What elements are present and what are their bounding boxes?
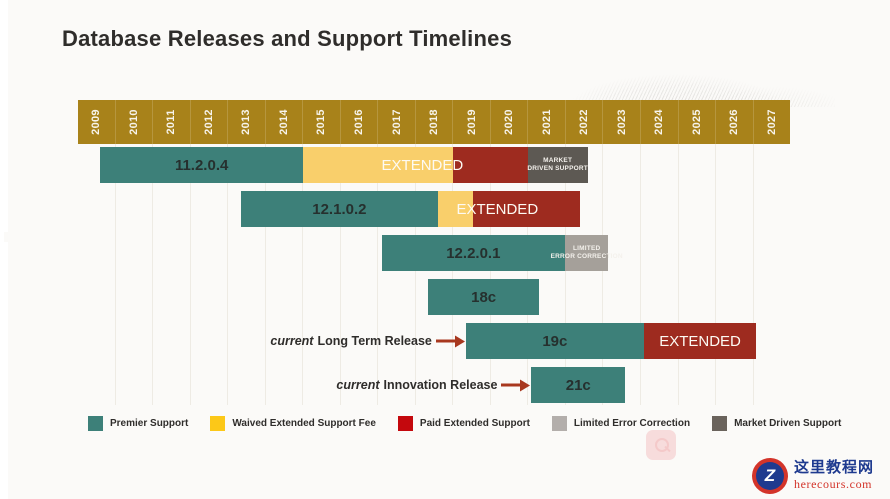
year-label: 2021 [541, 109, 553, 135]
page-title: Database Releases and Support Timelines [62, 26, 512, 52]
bar-segment-label: 12.1.0.2 [312, 201, 366, 218]
timeline-plot-area: 11.2.0.4MARKETDRIVEN SUPPORTEXTENDED12.1… [78, 144, 790, 405]
year-cell-2023: 2023 [603, 100, 641, 144]
timeline-row-21c: 21ccurrentInnovation Release [78, 367, 790, 403]
year-label: 2020 [503, 109, 515, 135]
legend-item-waived[interactable]: Waived Extended Support Fee [210, 416, 376, 431]
year-cell-2009: 2009 [78, 100, 116, 144]
bar-segment-21c-premier[interactable]: 21c [531, 367, 625, 403]
year-label: 2015 [315, 109, 327, 135]
legend-label: Limited Error Correction [574, 418, 690, 429]
year-label: 2016 [353, 109, 365, 135]
gridline-2014 [266, 144, 304, 405]
timeline-row-18c: 18c [78, 279, 790, 315]
legend-swatch-limited [552, 416, 567, 431]
gridline-2015 [303, 144, 341, 405]
year-cell-2015: 2015 [303, 100, 341, 144]
annotation-arrow-icon [501, 384, 521, 387]
bar-segment-label: MARKETDRIVEN SUPPORT [527, 157, 588, 173]
legend-item-market[interactable]: Market Driven Support [712, 416, 841, 431]
year-label: 2019 [466, 109, 478, 135]
gridline-2021 [528, 144, 566, 405]
legend-item-premier[interactable]: Premier Support [88, 416, 188, 431]
annotation-21c: currentInnovation Release [336, 367, 497, 403]
year-cell-2027: 2027 [754, 100, 791, 144]
site-watermark: Z 这里教程网 herecours.com [752, 456, 886, 496]
timeline-chart: 2009201020112012201320142015201620172018… [78, 100, 790, 405]
gridline-2020 [491, 144, 529, 405]
legend-swatch-paid [398, 416, 413, 431]
year-label: 2022 [578, 109, 590, 135]
year-label: 2012 [203, 109, 215, 135]
year-axis-header: 2009201020112012201320142015201620172018… [78, 100, 790, 144]
year-label: 2014 [278, 109, 290, 135]
annotation-italic: current [270, 334, 313, 348]
legend-swatch-premier [88, 416, 103, 431]
bar-segment-12.1.0.2-waived[interactable] [438, 191, 474, 227]
year-cell-2022: 2022 [566, 100, 604, 144]
bar-segment-label: 12.2.0.1 [446, 245, 500, 262]
search-watermark-icon [646, 430, 676, 460]
gridlines [78, 144, 790, 405]
slide-canvas: Database Releases and Support Timelines … [0, 0, 890, 499]
bar-segment-12.2.0.1-limited[interactable]: LIMITEDERROR CORRECTION [565, 235, 608, 271]
gridline-2009 [78, 144, 116, 405]
gridline-2022 [566, 144, 604, 405]
year-cell-2010: 2010 [116, 100, 154, 144]
gridline-2012 [191, 144, 229, 405]
gridline-2010 [116, 144, 154, 405]
bar-segment-11.2.0.4-paid[interactable] [453, 147, 528, 183]
year-cell-2011: 2011 [153, 100, 191, 144]
year-label: 2027 [766, 109, 778, 135]
timeline-row-19c: 19cEXTENDEDcurrentLong Term Release [78, 323, 790, 359]
year-label: 2018 [428, 109, 440, 135]
year-cell-2020: 2020 [491, 100, 529, 144]
bar-segment-label: LIMITEDERROR CORRECTION [551, 245, 623, 261]
legend-item-paid[interactable]: Paid Extended Support [398, 416, 530, 431]
gridline-2011 [153, 144, 191, 405]
chart-legend: Premier SupportWaived Extended Support F… [88, 412, 808, 434]
bar-segment-12.1.0.2-paid[interactable] [473, 191, 580, 227]
bar-segment-label: 21c [566, 377, 591, 394]
bar-segment-19c-premier[interactable]: 19c [466, 323, 644, 359]
year-cell-2021: 2021 [528, 100, 566, 144]
year-cell-2017: 2017 [378, 100, 416, 144]
year-cell-2019: 2019 [453, 100, 491, 144]
gridline-2025 [679, 144, 717, 405]
bar-segment-11.2.0.4-market[interactable]: MARKETDRIVEN SUPPORT [528, 147, 588, 183]
year-label: 2025 [691, 109, 703, 135]
bar-segment-label: 18c [471, 289, 496, 306]
bar-segment-12.1.0.2-premier[interactable]: 12.1.0.2 [241, 191, 438, 227]
year-label: 2009 [90, 109, 102, 135]
year-cell-2014: 2014 [266, 100, 304, 144]
timeline-row-12.1.0.2: 12.1.0.2EXTENDED [78, 191, 790, 227]
year-label: 2011 [165, 109, 177, 134]
legend-label: Premier Support [110, 418, 188, 429]
gridline-2026 [716, 144, 754, 405]
gridline-2017 [378, 144, 416, 405]
legend-label: Paid Extended Support [420, 418, 530, 429]
year-cell-2024: 2024 [641, 100, 679, 144]
bar-segment-12.2.0.1-premier[interactable]: 12.2.0.1 [382, 235, 566, 271]
annotation-arrow-icon [436, 340, 456, 343]
timeline-row-11.2.0.4: 11.2.0.4MARKETDRIVEN SUPPORTEXTENDED [78, 147, 790, 183]
year-label: 2023 [616, 109, 628, 135]
year-label: 2013 [240, 109, 252, 135]
bar-segment-label: 19c [542, 333, 567, 350]
annotation-italic: current [336, 378, 379, 392]
bar-segment-label: 11.2.0.4 [175, 157, 228, 174]
watermark-logo-icon: Z [752, 458, 788, 494]
year-label: 2017 [391, 109, 403, 135]
year-cell-2013: 2013 [228, 100, 266, 144]
legend-swatch-waived [210, 416, 225, 431]
annotation-19c: currentLong Term Release [270, 323, 431, 359]
gridline-2019 [453, 144, 491, 405]
annotation-bold: Innovation Release [384, 378, 498, 392]
legend-swatch-market [712, 416, 727, 431]
gridline-2023 [603, 144, 641, 405]
bar-segment-18c-premier[interactable]: 18c [428, 279, 539, 315]
year-label: 2024 [653, 109, 665, 135]
year-label: 2010 [128, 109, 140, 135]
timeline-row-12.2.0.1: 12.2.0.1LIMITEDERROR CORRECTION [78, 235, 790, 271]
year-label: 2026 [728, 109, 740, 135]
year-cell-2026: 2026 [716, 100, 754, 144]
year-cell-2018: 2018 [416, 100, 454, 144]
gridline-2027 [754, 144, 791, 405]
annotation-bold: Long Term Release [317, 334, 431, 348]
year-cell-2012: 2012 [191, 100, 229, 144]
watermark-logo-letter: Z [752, 458, 788, 494]
page-left-edge [0, 0, 8, 499]
gridline-2013 [228, 144, 266, 405]
watermark-chinese-text: 这里教程网 [794, 456, 874, 477]
bar-segment-label: EXTENDED [659, 333, 741, 350]
page-edge-notch [4, 232, 12, 242]
bar-segment-11.2.0.4-waived[interactable] [303, 147, 453, 183]
year-cell-2016: 2016 [341, 100, 379, 144]
watermark-domain-text: herecours.com [794, 477, 872, 492]
year-cell-2025: 2025 [679, 100, 717, 144]
legend-label: Waived Extended Support Fee [232, 418, 376, 429]
legend-label: Market Driven Support [734, 418, 841, 429]
gridline-2024 [641, 144, 679, 405]
gridline-2016 [341, 144, 379, 405]
legend-item-limited[interactable]: Limited Error Correction [552, 416, 690, 431]
decorative-texture [505, 45, 835, 107]
gridline-2018 [416, 144, 454, 405]
bar-segment-11.2.0.4-premier[interactable]: 11.2.0.4 [100, 147, 302, 183]
bar-segment-19c-paid[interactable]: EXTENDED [644, 323, 756, 359]
